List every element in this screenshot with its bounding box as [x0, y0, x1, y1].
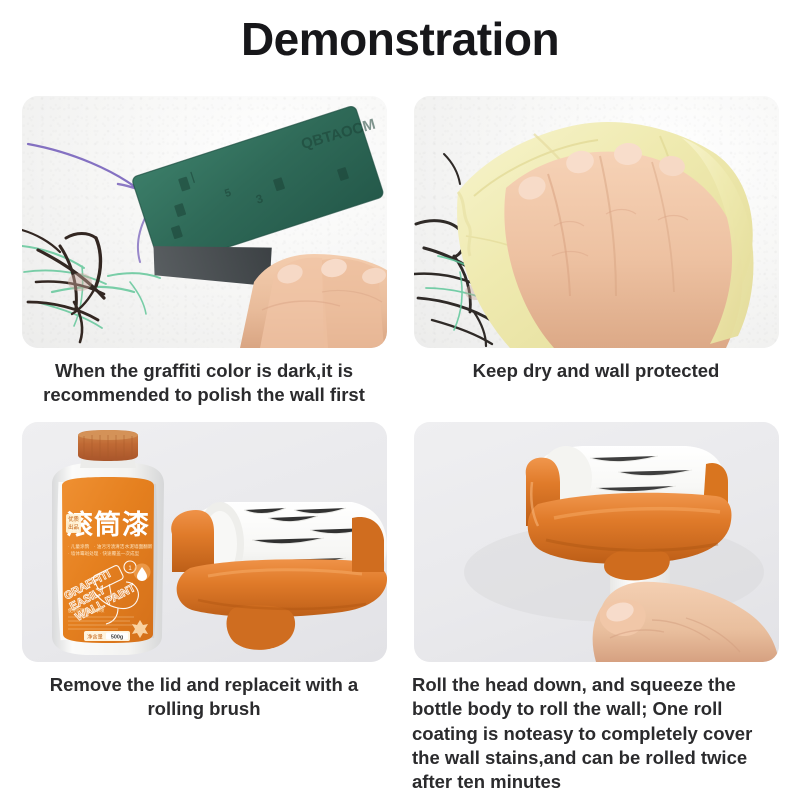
- roller-stem: [226, 605, 295, 650]
- caption-polish-wall: When the graffiti color is dark,it is re…: [24, 359, 384, 408]
- photo-sanding-block-on-graffiti-wall: QBTAOCM 5 3 ⎸: [22, 96, 387, 348]
- demo-row-bottom: 滚筒漆 优质 出品 · 儿童涂鸦 · 油污污渍清洁 · 水泥墙面翻新: [0, 422, 800, 795]
- scene-graffiti-and-sanding-block: QBTAOCM 5 3 ⎸: [22, 96, 387, 348]
- demonstration-grid: QBTAOCM 5 3 ⎸: [0, 96, 800, 795]
- photo-hand-wiping-wall-with-cloth: [414, 96, 779, 348]
- hand-squeezing-bottle: [592, 582, 778, 662]
- caption-replace-lid: Remove the lid and replaceit with a roll…: [24, 673, 384, 722]
- label-brand-1: 优质: [68, 515, 79, 523]
- scene-bottle-and-roller: 滚筒漆 优质 出品 · 儿童涂鸦 · 油污污渍清洁 · 水泥墙面翻新: [22, 422, 387, 662]
- demo-row-top: QBTAOCM 5 3 ⎸: [0, 96, 800, 408]
- svg-text:净含量: 净含量: [87, 632, 103, 640]
- caption-keep-dry: Keep dry and wall protected: [416, 359, 776, 383]
- scene-cloth-wipe: [414, 96, 779, 348]
- svg-text:500g: 500g: [110, 634, 122, 640]
- svg-text:· 墙体霉斑处理 · 快速覆盖一次成型: · 墙体霉斑处理 · 快速覆盖一次成型: [68, 550, 140, 557]
- graffiti-dark: [22, 230, 104, 342]
- bottle-label: 滚筒漆 优质 出品 · 儿童涂鸦 · 油污污渍清洁 · 水泥墙面翻新: [62, 477, 154, 643]
- roller-head-assembly: [171, 502, 387, 650]
- svg-text:· 水泥墙面翻新: · 水泥墙面翻新: [122, 543, 153, 550]
- paint-bottle: 滚筒漆 优质 出品 · 儿童涂鸦 · 油污污渍清洁 · 水泥墙面翻新: [52, 430, 164, 655]
- photo-bottle-and-roller-head: 滚筒漆 优质 出品 · 儿童涂鸦 · 油污污渍清洁 · 水泥墙面翻新: [22, 422, 387, 662]
- photo-hand-squeezing-roller-on-wall: [414, 422, 779, 662]
- demo-panel-keep-dry: Keep dry and wall protected: [405, 96, 787, 408]
- label-net-weight: 净含量 500g: [84, 631, 130, 641]
- svg-text:使用说明 注意事项: 使用说明 注意事项: [68, 607, 105, 614]
- label-brand-2: 出品: [68, 523, 79, 531]
- svg-text:· 油污污渍清洁: · 油污污渍清洁: [94, 543, 125, 550]
- page-title: Demonstration: [0, 0, 800, 62]
- demo-panel-polish-wall: QBTAOCM 5 3 ⎸: [13, 96, 395, 408]
- demo-panel-replace-lid: 滚筒漆 优质 出品 · 儿童涂鸦 · 油污污渍清洁 · 水泥墙面翻新: [13, 422, 395, 795]
- roller-frame-left: [171, 510, 214, 572]
- scene-roll-the-wall: [414, 422, 779, 662]
- demo-panel-roll-wall: Roll the head down, and squeeze the bott…: [405, 422, 787, 795]
- caption-roll-wall: Roll the head down, and squeeze the bott…: [412, 673, 780, 795]
- graffiti-smudge: [68, 273, 92, 291]
- svg-text:· 儿童涂鸦: · 儿童涂鸦: [68, 543, 90, 550]
